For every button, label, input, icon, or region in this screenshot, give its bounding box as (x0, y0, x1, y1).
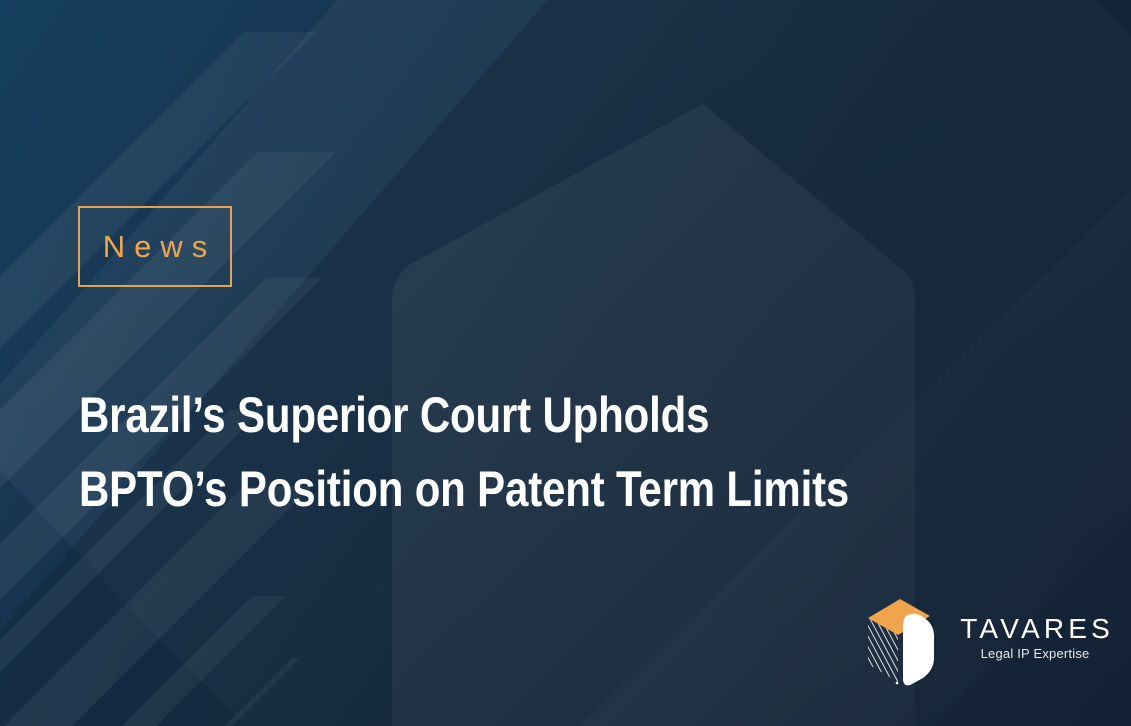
headline-line-2: BPTO’s Position on Patent Term Limits (79, 452, 818, 526)
logo-tagline: Legal IP Expertise (981, 644, 1090, 664)
logo-text-block: TAVARES Legal IP Expertise (956, 613, 1114, 668)
tavares-logo-lockup: TAVARES Legal IP Expertise (862, 594, 1084, 686)
news-eyebrow-box: News (78, 206, 232, 287)
headline-line-1: Brazil’s Superior Court Upholds (79, 378, 818, 452)
news-eyebrow-label: News (94, 231, 217, 262)
headline: Brazil’s Superior Court Upholds BPTO’s P… (79, 378, 818, 526)
logo-tip-dot (896, 682, 899, 685)
logo-facet-white (903, 614, 934, 686)
tavares-hex-shield-mark-icon (862, 594, 940, 686)
news-banner: News Brazil’s Superior Court Upholds BPT… (0, 0, 1131, 726)
logo-wordmark: TAVARES (956, 613, 1114, 644)
